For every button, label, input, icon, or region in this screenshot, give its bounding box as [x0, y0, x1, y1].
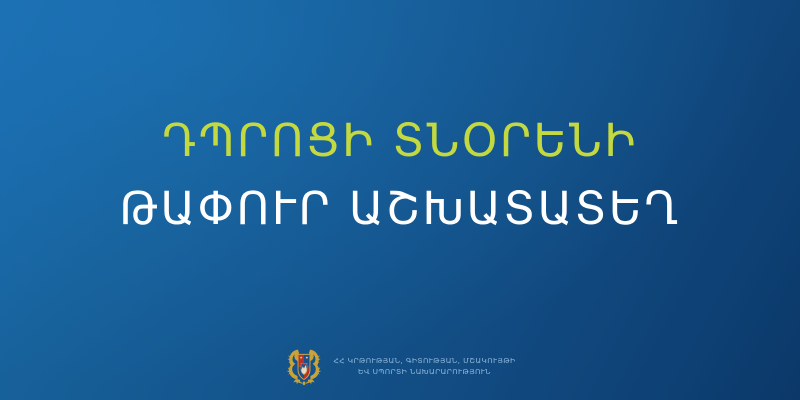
announcement-banner: ԴՊՐՈՑԻ ՏՆՕՐԵՆԻ ԹԱՓՈՒՐ ԱՇԽԱՏԱՏԵՂ	[0, 0, 800, 400]
footer-branding: ՀՀ ԿՐԹՈՒԹՅԱՆ, ԳԻՏՈՒԹՅԱՆ, ՄՇԱԿՈՒՅԹԻ ԵՎ ՍՊ…	[0, 340, 800, 392]
headline-line-2: ԹԱՓՈՒՐ ԱՇԽԱՏԱՏԵՂ	[0, 186, 800, 231]
ministry-name-line-2: ԵՎ ՍՊՈՐՏԻ ՆԱԽԱՐԱՐՈՒԹՅՈՒՆ	[334, 366, 516, 377]
headline-block: ԴՊՐՈՑԻ ՏՆՕՐԵՆԻ ԹԱՓՈՒՐ ԱՇԽԱՏԱՏԵՂ	[0, 118, 800, 231]
ministry-name-line-1: ՀՀ ԿՐԹՈՒԹՅԱՆ, ԳԻՏՈՒԹՅԱՆ, ՄՇԱԿՈՒՅԹԻ	[334, 355, 516, 366]
ministry-name: ՀՀ ԿՐԹՈՒԹՅԱՆ, ԳԻՏՈՒԹՅԱՆ, ՄՇԱԿՈՒՅԹԻ ԵՎ ՍՊ…	[334, 355, 516, 378]
headline-line-1: ԴՊՐՈՑԻ ՏՆՕՐԵՆԻ	[0, 118, 800, 186]
armenia-coat-of-arms-icon	[285, 346, 323, 386]
